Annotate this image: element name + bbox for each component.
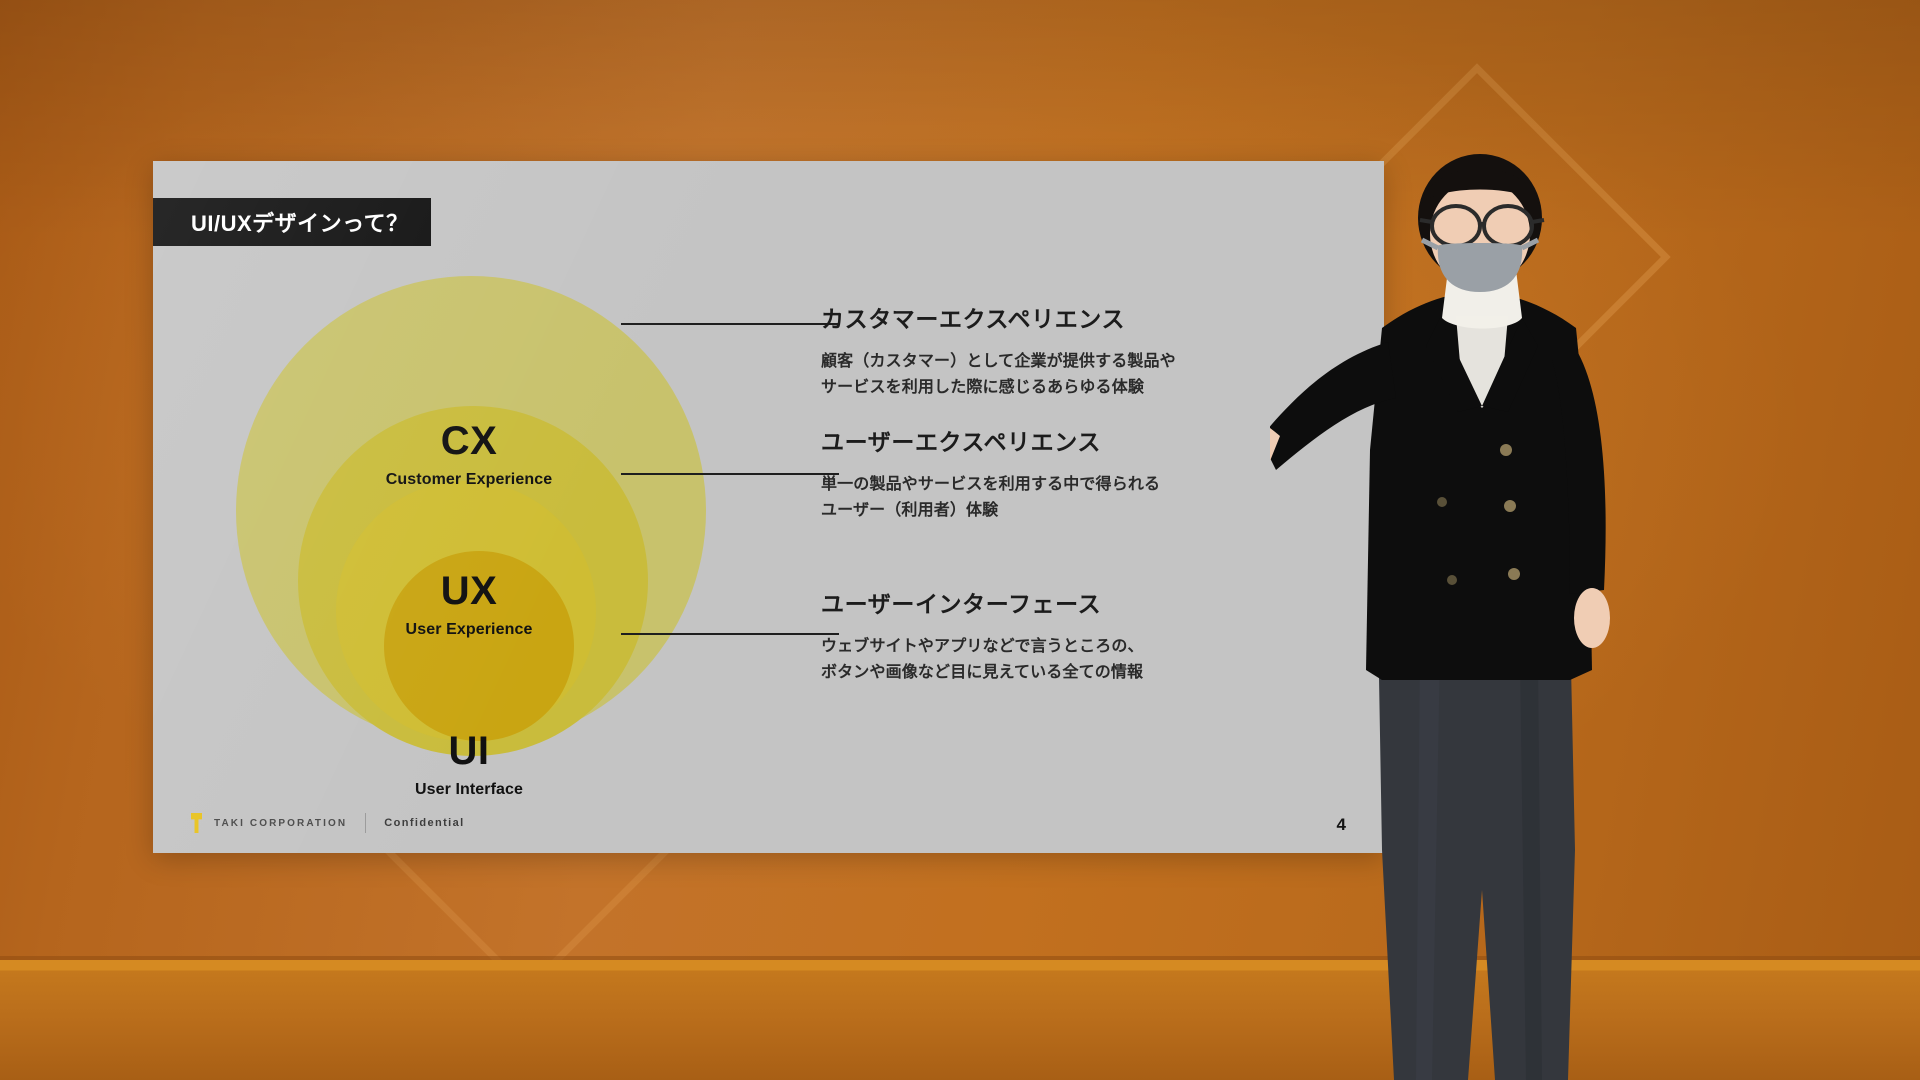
connector-line-cx: [621, 323, 839, 325]
presenter-right-hand: [1574, 588, 1610, 648]
presenter-button-2: [1504, 500, 1516, 512]
definition-cx-heading: カスタマーエクスペリエンス: [821, 306, 1291, 334]
company-name: TAKI CORPORATION: [214, 818, 347, 829]
taki-logo-icon: [191, 813, 202, 833]
definition-cx: カスタマーエクスペリエンス 顧客（カスタマー）として企業が提供する製品や サービ…: [821, 306, 1291, 400]
connector-line-ux: [621, 473, 839, 475]
connector-line-ui: [621, 633, 839, 635]
label-ui: UI User Interface: [349, 731, 589, 799]
presenter-person: [1270, 150, 1690, 1080]
label-ux: UX User Experience: [349, 571, 589, 639]
label-ux-abbr: UX: [349, 571, 589, 611]
presenter-figure: [1270, 150, 1690, 1080]
definition-ui-body: ウェブサイトやアプリなどで言うところの、 ボタンや画像など目に見えている全ての情…: [821, 634, 1291, 686]
definition-ui-line1: ウェブサイトやアプリなどで言うところの、: [821, 634, 1291, 660]
definition-ui-line2: ボタンや画像など目に見えている全ての情報: [821, 660, 1291, 686]
definition-cx-line2: サービスを利用した際に感じるあらゆる体験: [821, 375, 1291, 401]
label-ux-full: User Experience: [349, 621, 589, 639]
venn-diagram: CX Customer Experience UX User Experienc…: [236, 276, 736, 786]
definition-cx-body: 顧客（カスタマー）として企業が提供する製品や サービスを利用した際に感じるあらゆ…: [821, 349, 1291, 401]
presenter-button-3: [1508, 568, 1520, 580]
definition-ux-line2: ユーザー（利用者）体験: [821, 498, 1291, 524]
presenter-button-1: [1500, 444, 1512, 456]
definition-ui-heading: ユーザーインターフェース: [821, 591, 1291, 619]
definition-ui: ユーザーインターフェース ウェブサイトやアプリなどで言うところの、 ボタンや画像…: [821, 591, 1291, 685]
label-cx-full: Customer Experience: [349, 471, 589, 489]
confidential-label: Confidential: [384, 817, 464, 829]
label-ui-full: User Interface: [349, 781, 589, 799]
definition-ux-heading: ユーザーエクスペリエンス: [821, 429, 1291, 457]
slide-title: UI/UXデザインって？: [191, 206, 409, 238]
definition-ux-line1: 単一の製品やサービスを利用する中で得られる: [821, 472, 1291, 498]
label-cx-abbr: CX: [349, 421, 589, 461]
slide-footer: TAKI CORPORATION Confidential: [191, 813, 465, 833]
video-frame: UI/UXデザインって？ CX Customer Experience UX U…: [0, 0, 1920, 1080]
label-cx: CX Customer Experience: [349, 421, 589, 489]
slide-title-banner: UI/UXデザインって？: [153, 198, 431, 246]
footer-divider: [365, 813, 366, 833]
presentation-slide: UI/UXデザインって？ CX Customer Experience UX U…: [153, 161, 1384, 853]
definition-ux: ユーザーエクスペリエンス 単一の製品やサービスを利用する中で得られる ユーザー（…: [821, 429, 1291, 523]
label-ui-abbr: UI: [349, 731, 589, 771]
presenter-trousers: [1378, 620, 1575, 1080]
definition-ux-body: 単一の製品やサービスを利用する中で得られる ユーザー（利用者）体験: [821, 472, 1291, 524]
definition-cx-line1: 顧客（カスタマー）として企業が提供する製品や: [821, 349, 1291, 375]
